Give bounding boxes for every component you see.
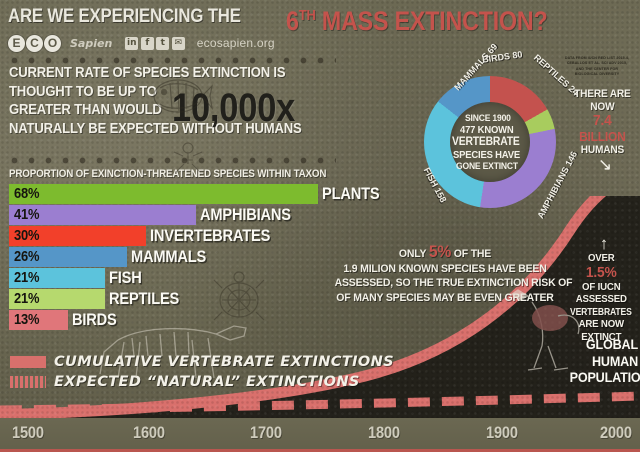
population-number: 7.4 <box>572 113 633 129</box>
bar-row: 26%MAMMALS <box>9 247 349 267</box>
bar-category-label: FISH <box>109 268 142 288</box>
website-url[interactable]: ecosapien.org <box>197 36 275 50</box>
donut-center-label: SINCE 1900 477 KNOWN VERTEBRATE SPECIES … <box>450 102 530 182</box>
humans-label: HUMANS <box>572 144 633 157</box>
bar-chart-heading: PROPORTION OF EXINCTION-THREATENED SPECI… <box>9 168 301 181</box>
billion-label: BILLION <box>572 129 633 144</box>
extinct-percent: 1.5% <box>570 265 633 281</box>
infographic-poster: ARE WE EXPERIENCING THE 6TH MASS EXTINCT… <box>0 0 640 452</box>
para-line-2: 1.9 MILION KNOWN SPECIES HAVE BEEN <box>335 262 556 277</box>
source-note: DATA FROM IUCN RED LIST 2015.4, CEBALLOS… <box>556 56 638 78</box>
facebook-icon[interactable]: f <box>141 37 154 50</box>
fish-skeleton-icon <box>148 66 214 130</box>
linkedin-icon[interactable]: in <box>125 37 138 50</box>
bar-value-label: 21% <box>14 269 39 287</box>
arrow-down-icon: ↘ <box>572 157 638 173</box>
para-line-1: ONLY 5% OF THE <box>335 245 556 262</box>
logo-wordmark: Sapien <box>70 37 112 50</box>
axis-year-1600: 1600 <box>133 423 165 443</box>
axis-year-1500: 1500 <box>12 423 44 443</box>
bar-value-label: 13% <box>14 311 39 329</box>
axis-year-2000: 2000 <box>600 423 632 443</box>
legend-swatch-solid <box>10 356 46 368</box>
title-accent-rest: MASS EXTINCTION? <box>316 6 548 36</box>
mammal-skeleton-icon <box>88 300 258 390</box>
bar-value-label: 68% <box>14 185 39 203</box>
page-title-accent: 6TH MASS EXTINCTION? <box>286 2 596 35</box>
bar-fill <box>9 184 318 204</box>
tumblr-icon[interactable]: t <box>156 37 169 50</box>
bar-value-label: 30% <box>14 227 39 245</box>
header: ARE WE EXPERIENCING THE 6TH MASS EXTINCT… <box>0 0 640 58</box>
frog-skeleton-icon <box>170 140 206 174</box>
bar-row: 68%PLANTS <box>9 184 349 204</box>
donut-line-3: VERTEBRATE <box>452 136 520 149</box>
population-callout: THERE ARE NOW 7.4 BILLION HUMANS ↘ <box>572 88 638 173</box>
bar-value-label: 21% <box>14 290 39 308</box>
there-are-label: THERE ARE <box>572 88 633 101</box>
bar-category-label: PLANTS <box>322 184 379 204</box>
bar-category-label: MAMMALS <box>131 247 206 267</box>
title-accent-number: 6 <box>286 6 299 36</box>
donut-line-1: SINCE 1900 <box>465 113 511 124</box>
donut-line-5: GONE EXTINCT <box>456 161 518 172</box>
logo-letter-c: C <box>26 35 43 52</box>
arrow-up-icon: ↑ <box>570 236 638 252</box>
bar-value-label: 41% <box>14 206 39 224</box>
extinctions-donut-chart: SINCE 1900 477 KNOWN VERTEBRATE SPECIES … <box>424 76 556 208</box>
logo-letter-e: E <box>8 35 25 52</box>
bar-row: 41%AMPHIBIANS <box>9 205 349 225</box>
brand-bar: E C O Sapien in f t ✉ ecosapien.org <box>8 33 275 53</box>
bar-value-label: 26% <box>14 248 39 266</box>
para-only: ONLY <box>399 248 429 260</box>
bar-category-label: AMPHIBIANS <box>200 205 291 225</box>
legend-swatch-hatched <box>10 376 46 388</box>
axis-year-1700: 1700 <box>250 423 282 443</box>
social-icons: in f t ✉ <box>125 37 185 50</box>
source-line-4: BIOLOGICAL DIVERSITY <box>556 72 638 77</box>
para-five-percent: 5% <box>429 242 451 261</box>
bar-category-label: INVERTEBRATES <box>150 226 270 246</box>
bar-row: 21%FISH <box>9 268 349 288</box>
page-title: ARE WE EXPERIENCING THE <box>8 6 275 26</box>
title-accent-superscript: TH <box>299 7 316 24</box>
logo-letter-o: O <box>44 35 61 52</box>
axis-year-1800: 1800 <box>368 423 400 443</box>
year-axis: 1500 1600 1700 1800 1900 2000 <box>0 418 640 452</box>
bird-skeleton-icon <box>498 282 590 384</box>
bar-row: 30%INVERTEBRATES <box>9 226 349 246</box>
donut-line-2: 477 KNOWN <box>460 124 514 136</box>
twitter-icon[interactable]: ✉ <box>172 37 185 50</box>
para-of-the: OF THE <box>451 248 491 260</box>
donut-line-4: SPECIES HAVE <box>453 149 520 161</box>
axis-year-1900: 1900 <box>486 423 518 443</box>
